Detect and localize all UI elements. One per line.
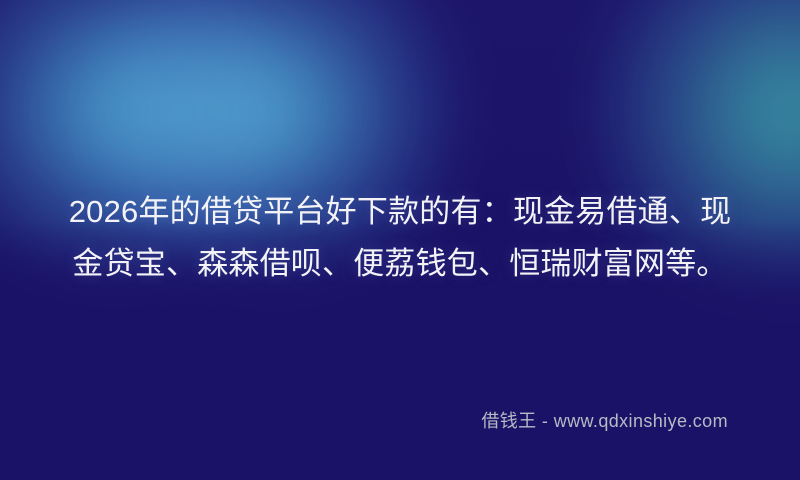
banner-content: 2026年的借贷平台好下款的有：现金易借通、现金贷宝、森森借呗、便荔钱包、恒瑞财… [0, 0, 800, 480]
watermark-credit: 借钱王 - www.qdxinshiye.com [481, 410, 728, 432]
promo-banner: 2026年的借贷平台好下款的有：现金易借通、现金贷宝、森森借呗、便荔钱包、恒瑞财… [0, 0, 800, 480]
headline-text: 2026年的借贷平台好下款的有：现金易借通、现金贷宝、森森借呗、便荔钱包、恒瑞财… [0, 186, 800, 290]
